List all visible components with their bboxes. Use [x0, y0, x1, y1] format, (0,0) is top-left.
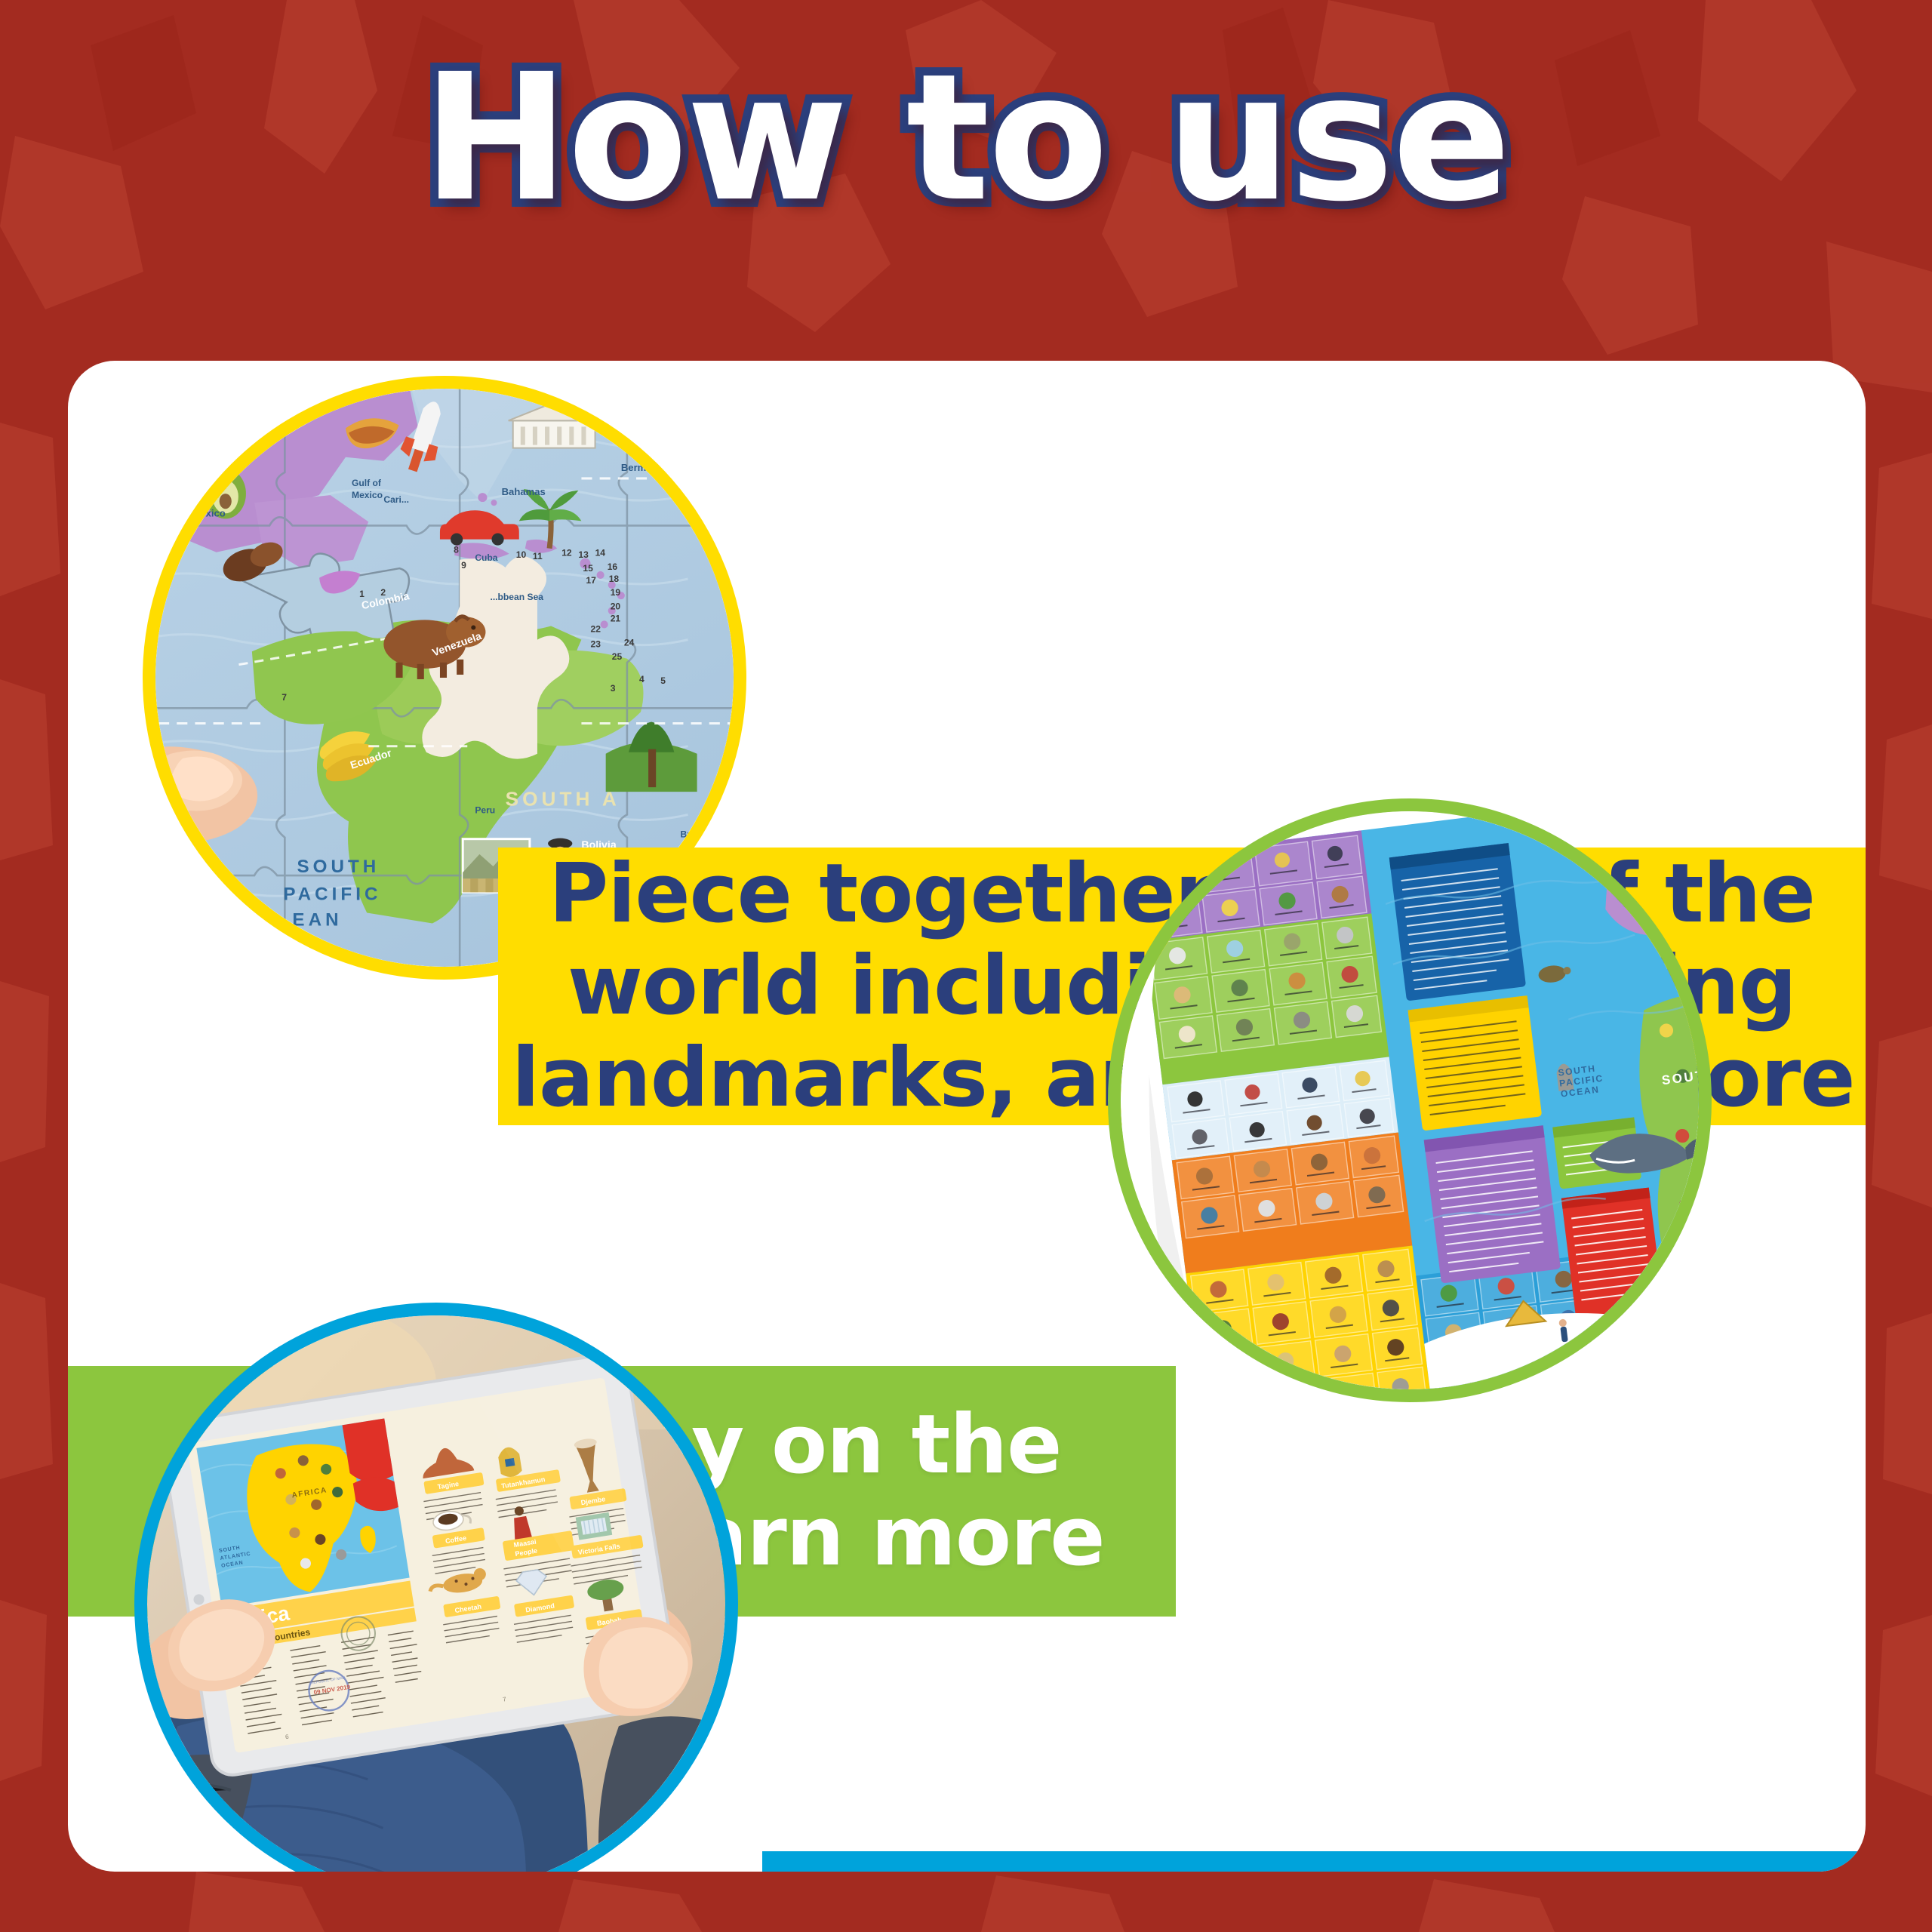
page-title: How to use: [423, 51, 1509, 226]
svg-text:SOUTH: SOUTH: [297, 857, 380, 877]
svg-text:4: 4: [639, 674, 645, 685]
svg-text:...bbean Sea: ...bbean Sea: [490, 592, 543, 602]
svg-text:7: 7: [281, 692, 287, 703]
poster-photo-inner: SOUTH AMERICA NORTH PACIFIC OCEAN SOUTH …: [1121, 811, 1699, 1389]
svg-text:25: 25: [612, 651, 623, 662]
svg-text:13: 13: [578, 549, 589, 560]
content-card: Mexico Gulf of Mexico Bahamas Bermuda Cu…: [68, 361, 1866, 1872]
svg-text:10: 10: [516, 549, 527, 560]
how-to-use-poster: How to use: [0, 0, 1932, 1932]
poster-key-photo: SOUTH AMERICA NORTH PACIFIC OCEAN SOUTH …: [1108, 798, 1712, 1402]
svg-text:Cuba: Cuba: [475, 552, 497, 563]
svg-text:15: 15: [583, 563, 593, 574]
svg-text:NORTH: NORTH: [1580, 811, 1620, 826]
svg-text:17: 17: [586, 575, 596, 586]
svg-text:Braz...: Braz...: [680, 829, 707, 840]
svg-text:14: 14: [595, 548, 606, 558]
svg-text:PACIFIC: PACIFIC: [283, 884, 381, 904]
svg-text:19: 19: [611, 587, 621, 598]
svg-text:2: 2: [380, 587, 386, 598]
svg-text:23: 23: [591, 639, 601, 650]
svg-text:8: 8: [454, 545, 459, 555]
svg-text:20: 20: [611, 601, 621, 611]
title-container: How to use: [0, 21, 1932, 255]
svg-text:Gulf of: Gulf of: [352, 478, 382, 488]
svg-text:22: 22: [591, 624, 601, 635]
svg-text:24: 24: [624, 638, 635, 648]
svg-text:18: 18: [609, 574, 620, 584]
svg-text:PACIFIC: PACIFIC: [1581, 820, 1626, 836]
svg-text:Mexico: Mexico: [352, 490, 383, 500]
svg-text:Mexico: Mexico: [192, 507, 225, 518]
step-3-banner: Access to exclusive downloadable fact sh…: [762, 1851, 1866, 1872]
tablet-photo-inner: AFRICA SOUTH ATLANTIC OCEAN Africa: [147, 1315, 725, 1872]
svg-text:11: 11: [533, 551, 543, 561]
svg-text:SOUTH A: SOUTH A: [506, 787, 620, 810]
svg-text:OCEAN: OCEAN: [1583, 832, 1623, 847]
svg-text:3: 3: [611, 683, 616, 694]
svg-text:16: 16: [608, 561, 618, 572]
svg-text:Bermuda: Bermuda: [621, 462, 664, 473]
svg-text:9: 9: [461, 560, 466, 571]
svg-text:EAN: EAN: [292, 910, 342, 931]
svg-text:5: 5: [660, 675, 666, 686]
svg-text:1: 1: [359, 589, 365, 599]
svg-text:21: 21: [611, 613, 621, 623]
svg-text:Cari...: Cari...: [383, 494, 409, 505]
svg-text:12: 12: [561, 548, 572, 558]
svg-text:Bahamas: Bahamas: [502, 486, 546, 497]
svg-text:Peru: Peru: [475, 804, 495, 815]
